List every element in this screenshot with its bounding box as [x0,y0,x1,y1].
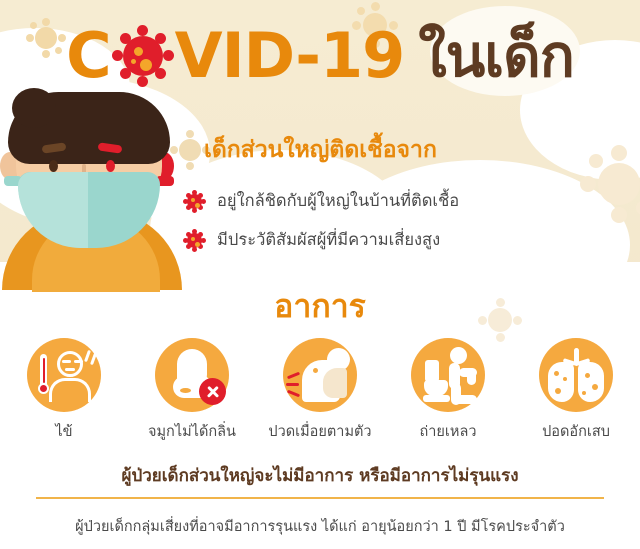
symptoms-grid: ไข้ จมูกไม่ได้กลิ่น [0,338,640,443]
transmission-item-1-label: อยู่ใกล้ชิดกับผู้ใหญ่ในบ้านที่ติดเชื้อ [217,188,459,214]
symptoms-heading: อาการ [0,281,640,332]
virus-logo-icon [112,25,174,87]
title-brand-c: C [66,25,111,87]
nose-no-smell-icon [155,338,229,412]
infographic-poster: C VID-19 ในเด็ก [0,0,640,549]
symptom-item-no-smell: จมูกไม่ได้กลิ่น [132,338,252,443]
note-primary: ผู้ป่วยเด็กส่วนใหญ่จะไม่มีอาการ หรือมีอา… [0,462,640,489]
symptom-item-diarrhea: ถ่ายเหลว [388,338,508,443]
symptom-item-body-ache: ปวดเมื่อยตามตัว [260,338,380,443]
toilet-diarrhea-icon [411,338,485,412]
symptom-label-fever: ไข้ [4,420,124,443]
title-brand-tail: VID-19 [175,25,405,87]
symptom-label-diarrhea: ถ่ายเหลว [388,420,508,443]
virus-bullet-icon [183,190,206,213]
transmission-item-2-label: มีประวัติสัมผัสผู้ที่มีความเสี่ยงสูง [217,227,440,253]
poster-title: C VID-19 ในเด็ก [0,20,640,92]
child-illustration [0,92,190,272]
decor-virus-icon-6 [352,2,362,12]
lungs-pneumonia-icon [539,338,613,412]
decor-virus-icon-4 [580,145,640,223]
body-ache-icon [283,338,357,412]
transmission-item-2: มีประวัติสัมผัสผู้ที่มีความเสี่ยงสูง [183,227,440,253]
virus-bullet-icon [183,229,206,252]
red-x-badge-icon [199,378,226,405]
symptom-item-pneumonia: ปอดอักเสบ [516,338,636,443]
symptom-label-no-smell: จมูกไม่ได้กลิ่น [132,420,252,443]
section-divider [36,497,604,499]
symptom-label-pneumonia: ปอดอักเสบ [516,420,636,443]
note-secondary: ผู้ป่วยเด็กกลุ่มเสี่ยงที่อาจมีอาการรุนแร… [0,515,640,538]
title-suffix: ในเด็ก [418,27,574,85]
fever-thermometer-icon [27,338,101,412]
symptom-label-body-ache: ปวดเมื่อยตามตัว [260,420,380,443]
transmission-item-1: อยู่ใกล้ชิดกับผู้ใหญ่ในบ้านที่ติดเชื้อ [183,188,459,214]
symptom-item-fever: ไข้ [4,338,124,443]
transmission-heading: เด็กส่วนใหญ่ติดเชื้อจาก [204,132,437,168]
